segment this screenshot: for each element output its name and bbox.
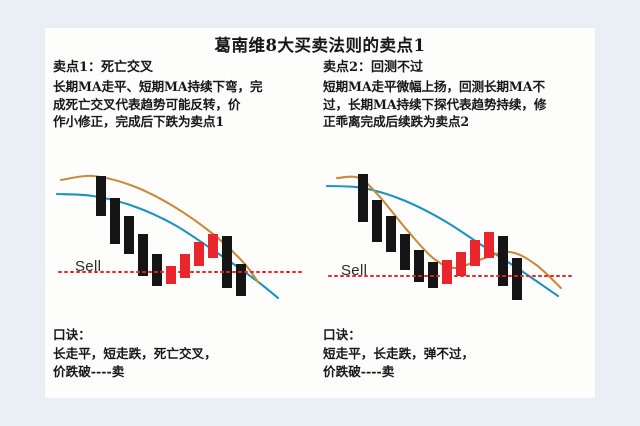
candle-up [484, 232, 494, 258]
sell-point-2-body: 短期MA走平微幅上扬，回测长期MA不 过，长期MA持续下探代表趋势持续，修 正乖… [323, 78, 585, 131]
candle-down [358, 174, 368, 222]
candle-down [498, 236, 508, 286]
sell-point-2-heading: 卖点2：回测不过 [323, 56, 585, 75]
candle-down [236, 264, 246, 296]
candle-up [470, 240, 480, 266]
candle-down [512, 258, 522, 300]
chart-1-sell-label: Sell [75, 258, 101, 275]
candle-up [208, 234, 218, 258]
mnemonic-1-line-1: 长走平，短走跌，死亡交叉， [53, 345, 315, 363]
sell-point-2-line-2: 过，长期MA持续下探代表趋势持续，修 [323, 96, 585, 114]
candle-down [152, 254, 162, 286]
candle-down [96, 176, 106, 216]
candle-up [456, 252, 466, 276]
candle-down [414, 250, 424, 282]
chart-2-canvas [323, 154, 585, 319]
page-root: 葛南维8大买卖法则的卖点1 卖点1：死亡交叉 长期MA走平、短期MA持续下弯，完… [0, 0, 640, 426]
sell-point-1-text: 卖点1：死亡交叉 长期MA走平、短期MA持续下弯，完 成死亡交叉代表趋势可能反转… [53, 56, 315, 131]
chart-1-candles [96, 176, 246, 296]
sell-point-1-line-3: 作小修正，完成后下跌为卖点1 [53, 113, 315, 131]
sell-point-2-line-1: 短期MA走平微幅上扬，回测长期MA不 [323, 78, 585, 96]
candle-down [400, 234, 410, 270]
sell-point-1-chart: Sell [53, 154, 315, 319]
sell-point-2-text: 卖点2：回测不过 短期MA走平微幅上扬，回测长期MA不 过，长期MA持续下探代表… [323, 56, 585, 131]
candle-up [166, 266, 176, 284]
candle-up [180, 254, 190, 278]
sell-point-1-heading: 卖点1：死亡交叉 [53, 56, 315, 75]
mnemonic-2-line-2: 价跌破----卖 [323, 363, 585, 381]
sell-point-1-line-1: 长期MA走平、短期MA持续下弯，完 [53, 78, 315, 96]
candle-down [386, 216, 396, 252]
candle-down [124, 216, 134, 254]
candle-down [372, 200, 382, 242]
mnemonic-2-heading: 口诀： [323, 324, 585, 343]
candle-down [138, 234, 148, 276]
mnemonic-2-line-1: 短走平，长走跌，弹不过， [323, 345, 585, 363]
sell-point-2-chart: Sell [323, 154, 585, 319]
mnemonic-1-heading: 口诀： [53, 324, 315, 343]
candle-up [194, 242, 204, 266]
page-title: 葛南维8大买卖法则的卖点1 [45, 32, 595, 56]
chart-1-canvas [53, 154, 315, 319]
sell-point-1-line-2: 成死亡交叉代表趋势可能反转，价 [53, 96, 315, 114]
candle-down [222, 236, 232, 288]
content-panel: 葛南维8大买卖法则的卖点1 卖点1：死亡交叉 长期MA走平、短期MA持续下弯，完… [45, 28, 595, 398]
sell-point-1-mnemonic: 口诀： 长走平，短走跌，死亡交叉， 价跌破----卖 [53, 324, 315, 381]
candle-up [442, 260, 452, 284]
mnemonic-1-line-2: 价跌破----卖 [53, 363, 315, 381]
sell-point-1-body: 长期MA走平、短期MA持续下弯，完 成死亡交叉代表趋势可能反转，价 作小修正，完… [53, 78, 315, 131]
candle-down [110, 198, 120, 244]
sell-point-2-line-3: 正乖离完成后续跌为卖点2 [323, 113, 585, 131]
sell-point-2-mnemonic: 口诀： 短走平，长走跌，弹不过， 价跌破----卖 [323, 324, 585, 381]
chart-2-sell-label: Sell [341, 262, 367, 279]
